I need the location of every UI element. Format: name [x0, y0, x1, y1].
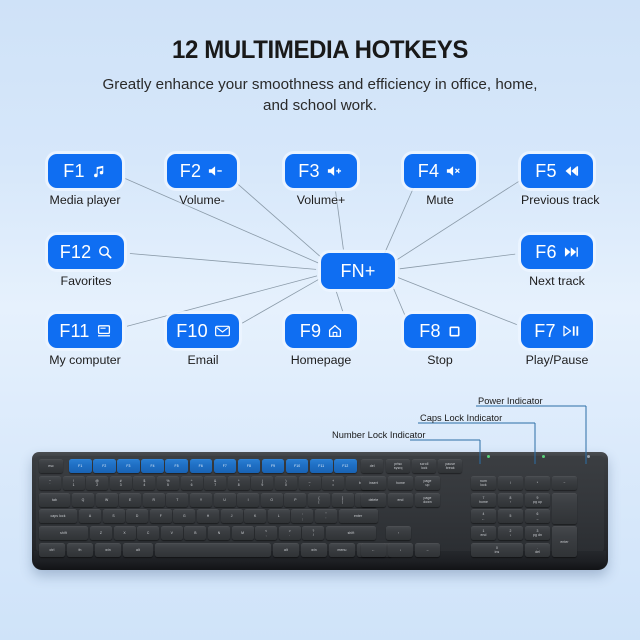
- hotkey-f3-key[interactable]: F3: [285, 154, 357, 188]
- page-title: 12 MULTIMEDIA HOTKEYS: [13, 36, 627, 65]
- hotkey-caption: Volume-: [167, 193, 237, 207]
- hotkey-f10-key[interactable]: F10: [167, 314, 239, 348]
- hotkey-f5-key[interactable]: F5: [521, 154, 593, 188]
- hotkey-caption: Next track: [521, 274, 593, 288]
- hotkey-key-code: F11: [59, 321, 89, 342]
- hotkey-caption: Mute: [404, 193, 476, 207]
- hotkey-key-code: F9: [300, 321, 321, 342]
- hotkey-key-code: F3: [298, 161, 319, 182]
- hotkey-node-fn[interactable]: FN+: [321, 253, 395, 289]
- envelope-icon: [215, 325, 230, 337]
- hotkey-f8-key[interactable]: F8: [404, 314, 476, 348]
- hotkey-node-f11[interactable]: F11My computer: [48, 314, 122, 367]
- hotkey-f1-key[interactable]: F1: [48, 154, 122, 188]
- hotkey-node-f7[interactable]: F7Play/Pause: [521, 314, 593, 367]
- hotkey-key-code: F2: [180, 161, 201, 182]
- hotkey-node-f9[interactable]: F9Homepage: [285, 314, 357, 367]
- callout-caps-lock-indicator: Caps Lock Indicator: [420, 413, 502, 423]
- hotkey-caption: Email: [167, 353, 239, 367]
- hotkey-node-f5[interactable]: F5Previous track: [521, 154, 593, 207]
- search-icon: [98, 245, 112, 259]
- hotkey-node-f6[interactable]: F6Next track: [521, 235, 593, 288]
- stop-square-icon: [448, 325, 461, 338]
- volume-mute-icon: [446, 164, 462, 178]
- fn-plus-hub[interactable]: FN+: [321, 253, 395, 289]
- hotkey-key-code: F1: [63, 161, 84, 182]
- hotkey-node-f8[interactable]: F8Stop: [404, 314, 476, 367]
- header: 12 MULTIMEDIA HOTKEYS Greatly enhance yo…: [0, 0, 640, 116]
- volume-up-icon: [327, 164, 344, 178]
- hotkey-f7-key[interactable]: F7: [521, 314, 593, 348]
- hotkey-caption: My computer: [48, 353, 122, 367]
- hotkey-node-f2[interactable]: F2Volume-: [167, 154, 237, 207]
- callout-number-lock-indicator: Number Lock Indicator: [332, 430, 426, 440]
- keyboard-photo-area: Power Indicator Caps Lock Indicator Numb…: [0, 380, 640, 640]
- previous-track-icon: [564, 165, 579, 177]
- hotkey-key-code: F6: [535, 242, 556, 263]
- next-track-icon: [564, 246, 579, 258]
- callout-power-indicator: Power Indicator: [478, 396, 543, 406]
- hotkey-node-f10[interactable]: F10Email: [167, 314, 239, 367]
- hotkey-caption: Previous track: [521, 193, 593, 207]
- hotkey-node-f4[interactable]: F4Mute: [404, 154, 476, 207]
- hotkey-key-code: F12: [60, 242, 92, 263]
- hotkey-f2-key[interactable]: F2: [167, 154, 237, 188]
- hotkey-caption: Favorites: [48, 274, 124, 288]
- hotkey-node-f1[interactable]: F1Media player: [48, 154, 122, 207]
- hotkey-node-f3[interactable]: F3Volume+: [285, 154, 357, 207]
- hotkey-f12-key[interactable]: F12: [48, 235, 124, 269]
- play-pause-icon: [563, 325, 580, 337]
- fn-hub-label: FN+: [340, 261, 375, 282]
- music-note-icon: [92, 164, 107, 179]
- hotkey-key-code: F7: [534, 321, 555, 342]
- hotkey-caption: Play/Pause: [521, 353, 593, 367]
- page-subtitle: Greatly enhance your smoothness and effi…: [0, 74, 640, 116]
- hotkey-f4-key[interactable]: F4: [404, 154, 476, 188]
- hotkey-key-code: F4: [418, 161, 439, 182]
- hotkey-caption: Stop: [404, 353, 476, 367]
- hotkey-caption: Volume+: [285, 193, 357, 207]
- hotkey-f11-key[interactable]: F11: [48, 314, 122, 348]
- hotkey-f6-key[interactable]: F6: [521, 235, 593, 269]
- volume-down-icon: [208, 164, 224, 178]
- hotkey-caption: Homepage: [285, 353, 357, 367]
- hotkey-node-f12[interactable]: F12Favorites: [48, 235, 124, 288]
- hotkey-key-code: F5: [535, 161, 556, 182]
- hotkey-caption: Media player: [48, 193, 122, 207]
- hotkey-key-code: F8: [419, 321, 440, 342]
- home-icon: [328, 324, 342, 338]
- hotkey-key-code: F10: [176, 321, 208, 342]
- hotkey-diagram: F1Media playerF2Volume-F3Volume+F4MuteF5…: [0, 130, 640, 380]
- hotkey-f9-key[interactable]: F9: [285, 314, 357, 348]
- computer-icon: [97, 324, 111, 338]
- callout-lines: [0, 380, 640, 640]
